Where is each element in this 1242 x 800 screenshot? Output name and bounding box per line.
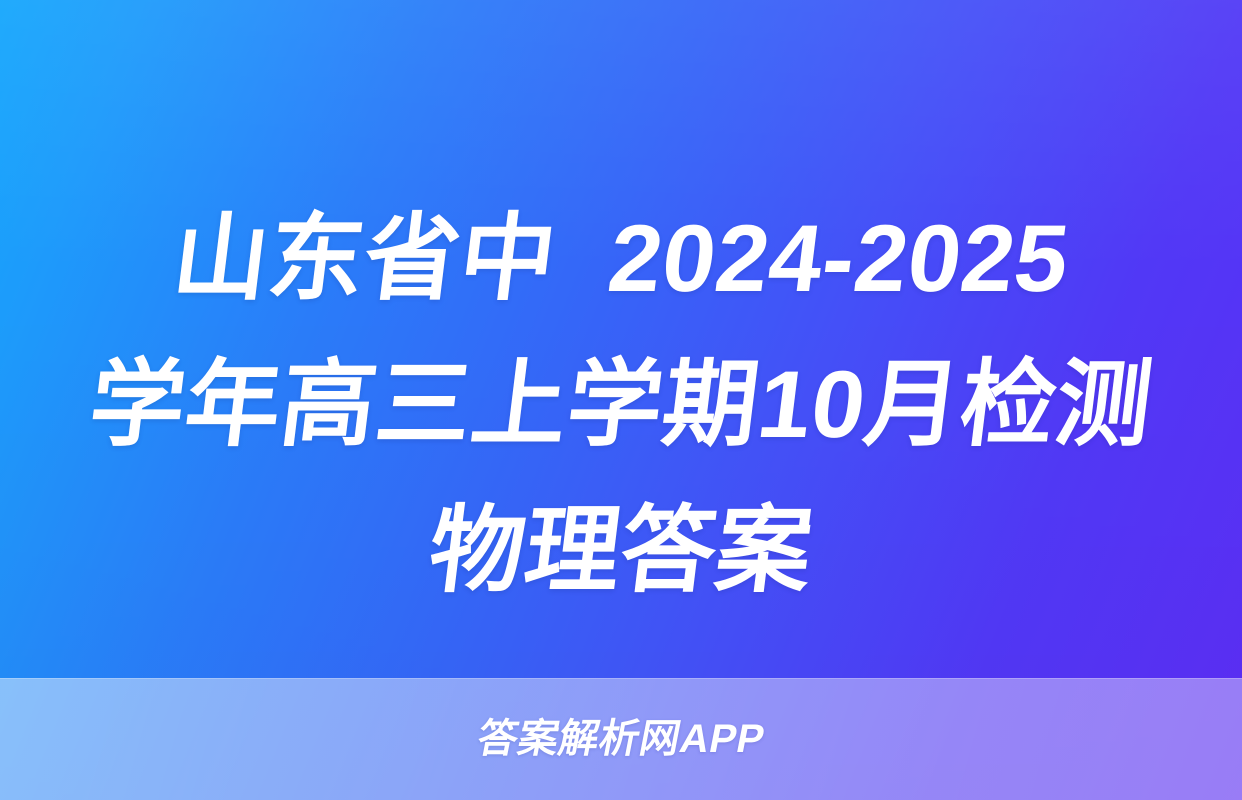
title-line-1: 山东省中 2024-2025 (77, 186, 1165, 332)
poster-canvas: 山东省中 2024-2025 学年高三上学期10月检测 物理答案 答案解析网AP… (0, 0, 1242, 800)
title-line-2: 学年高三上学期10月检测 (77, 332, 1165, 478)
watermark-bar: 答案解析网APP (0, 678, 1242, 800)
page-title: 山东省中 2024-2025 学年高三上学期10月检测 物理答案 (0, 186, 1242, 624)
title-line-3: 物理答案 (77, 478, 1165, 624)
watermark-text: 答案解析网APP (473, 716, 768, 762)
